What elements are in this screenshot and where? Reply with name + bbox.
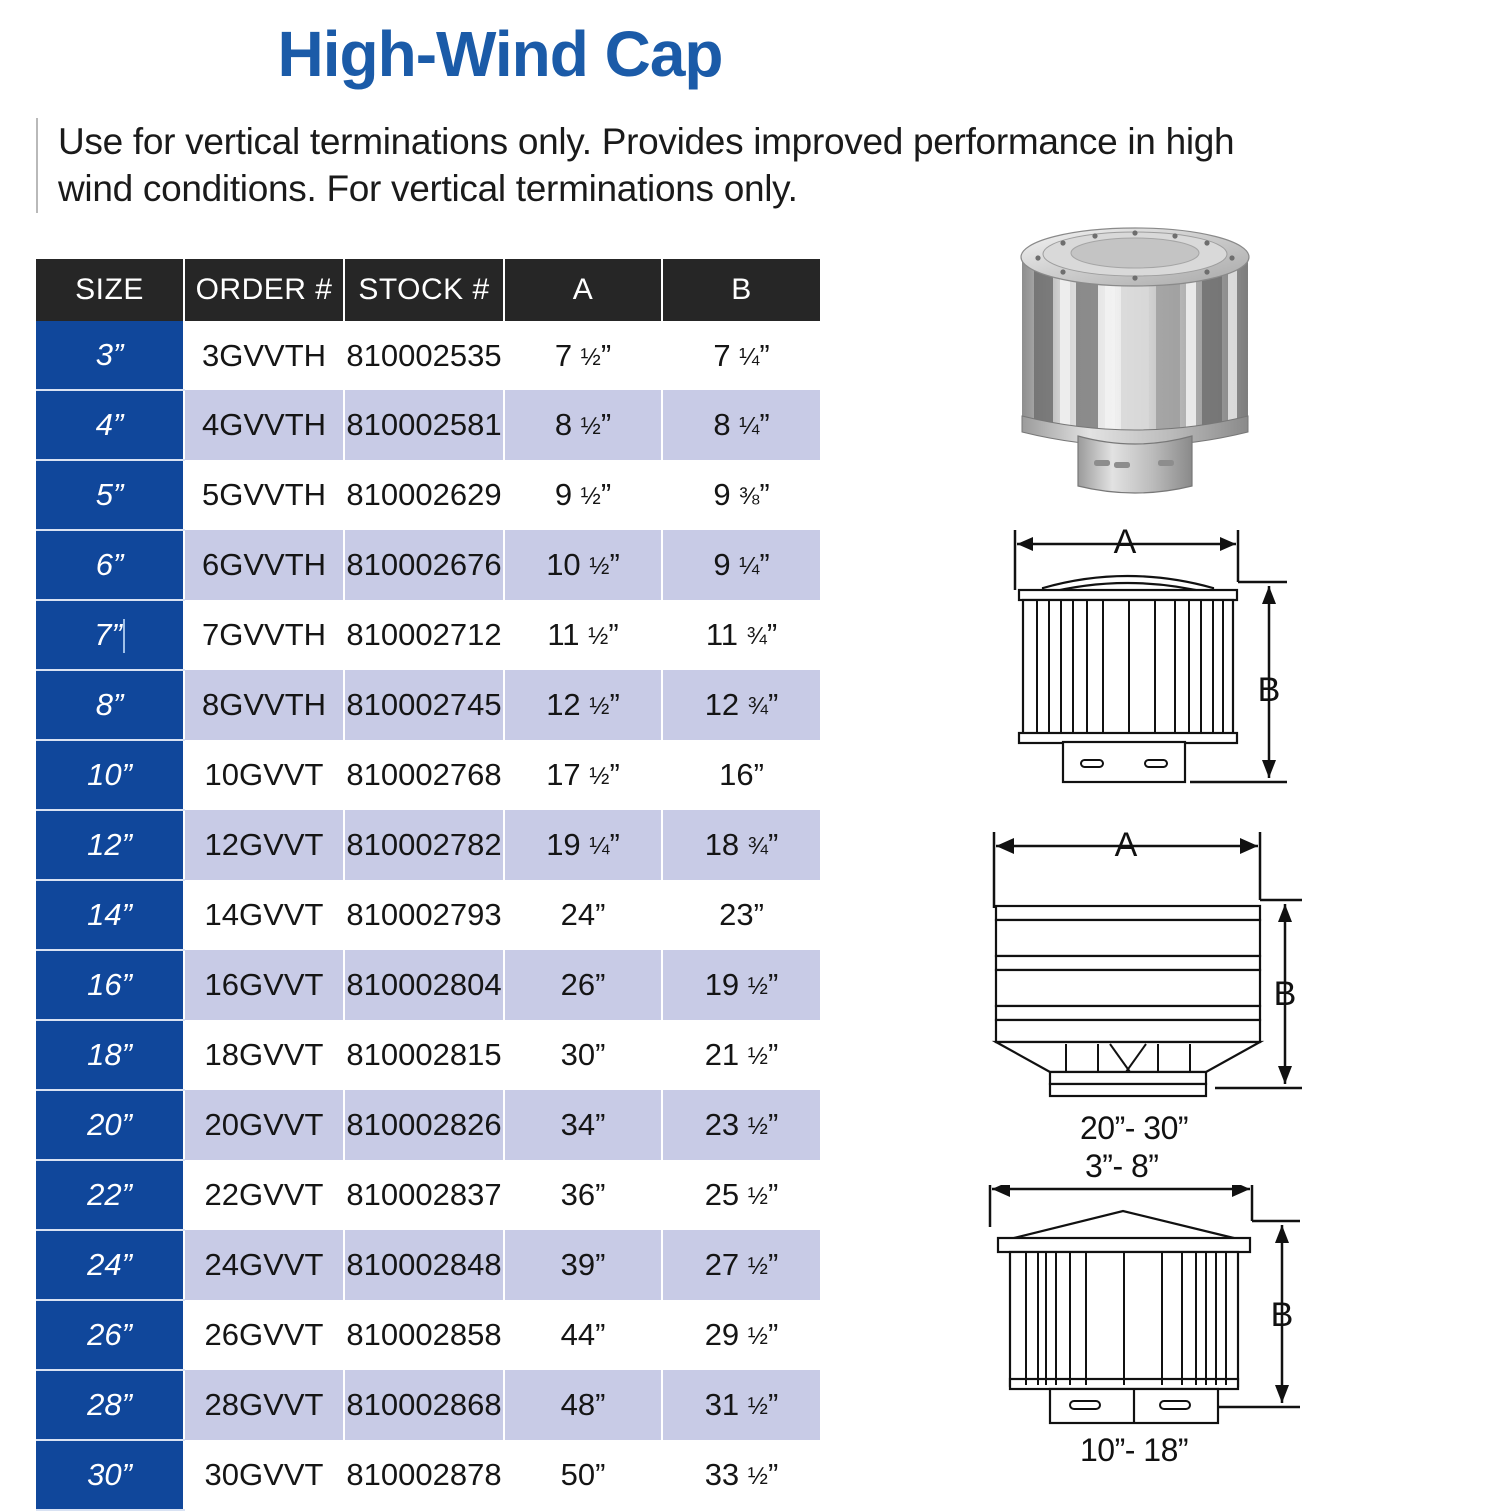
dim-a-label-2: A: [1115, 826, 1138, 864]
cell-stock: 810002581: [344, 390, 504, 460]
cell-stock: 810002837: [344, 1160, 504, 1230]
cell-order: 24GVVT: [184, 1230, 344, 1300]
table-row: 8”8GVVTH81000274512 ½”12 ¾”: [36, 670, 820, 740]
cell-b: 23 ½”: [662, 1090, 820, 1160]
dim-b-label-1: B: [1258, 671, 1281, 709]
cell-stock: 810002535: [344, 321, 504, 390]
cell-size: 24”: [36, 1230, 184, 1300]
table-body: 3”3GVVTH8100025357 ½”7 ¼”4”4GVVTH8100025…: [36, 321, 820, 1510]
column-header-order: ORDER #: [184, 259, 344, 321]
cell-stock: 810002745: [344, 670, 504, 740]
cell-b: 27 ½”: [662, 1230, 820, 1300]
table-row: 12”12GVVT81000278219 ¼”18 ¾”: [36, 810, 820, 880]
diagram-peaked-cap: B: [960, 1185, 1310, 1435]
table-row: 24”24GVVT81000284839”27 ½”: [36, 1230, 820, 1300]
cell-order: 6GVVTH: [184, 530, 344, 600]
cell-size: 12”: [36, 810, 184, 880]
cell-size: 18”: [36, 1020, 184, 1090]
cell-size: 3”: [36, 321, 184, 390]
cell-stock: 810002858: [344, 1300, 504, 1370]
cell-stock: 810002815: [344, 1020, 504, 1090]
cell-order: 28GVVT: [184, 1370, 344, 1440]
table-row: 26”26GVVT81000285844”29 ½”: [36, 1300, 820, 1370]
description-text: Use for vertical terminations only. Prov…: [58, 118, 1266, 213]
cell-size: 20”: [36, 1090, 184, 1160]
cell-b: 7 ¼”: [662, 321, 820, 390]
page-title: High-Wind Cap: [0, 22, 1000, 86]
column-header-size: SIZE: [36, 259, 184, 321]
caption-3-8-inch: 3”- 8”: [1085, 1148, 1158, 1185]
cell-order: 18GVVT: [184, 1020, 344, 1090]
cell-a: 24”: [504, 880, 662, 950]
cell-order: 20GVVT: [184, 1090, 344, 1160]
cell-size: 16”: [36, 950, 184, 1020]
cell-stock: 810002804: [344, 950, 504, 1020]
cell-size: 6”: [36, 530, 184, 600]
cell-a: 30”: [504, 1020, 662, 1090]
dim-a-label-1: A: [1114, 523, 1137, 561]
cell-order: 7GVVTH: [184, 600, 344, 670]
cell-size: 14”: [36, 880, 184, 950]
description-block: Use for vertical terminations only. Prov…: [36, 118, 1266, 213]
cell-size: 28”: [36, 1370, 184, 1440]
cell-size: 10”: [36, 740, 184, 810]
cell-order: 8GVVTH: [184, 670, 344, 740]
cell-stock: 810002782: [344, 810, 504, 880]
table-row: 5”5GVVTH8100026299 ½”9 ⅜”: [36, 460, 820, 530]
cell-size: 22”: [36, 1160, 184, 1230]
table-row: 10”10GVVT81000276817 ½”16”: [36, 740, 820, 810]
cell-b: 9 ¼”: [662, 530, 820, 600]
cell-b: 29 ½”: [662, 1300, 820, 1370]
table-row: 4”4GVVTH8100025818 ½”8 ¼”: [36, 390, 820, 460]
cell-a: 7 ½”: [504, 321, 662, 390]
cell-b: 18 ¾”: [662, 810, 820, 880]
cell-b: 12 ¾”: [662, 670, 820, 740]
cell-order: 12GVVT: [184, 810, 344, 880]
table-row: 28”28GVVT81000286848”31 ½”: [36, 1370, 820, 1440]
cell-a: 39”: [504, 1230, 662, 1300]
cell-a: 11 ½”: [504, 600, 662, 670]
specification-table: SIZE ORDER # STOCK # A B 3”3GVVTH8100025…: [36, 259, 820, 1511]
table-row: 3”3GVVTH8100025357 ½”7 ¼”: [36, 321, 820, 390]
table-header-row: SIZE ORDER # STOCK # A B: [36, 259, 820, 321]
cell-b: 31 ½”: [662, 1370, 820, 1440]
cell-order: 10GVVT: [184, 740, 344, 810]
cell-b: 21 ½”: [662, 1020, 820, 1090]
dim-b-label-2: B: [1274, 975, 1297, 1013]
cell-a: 9 ½”: [504, 460, 662, 530]
cell-stock: 810002629: [344, 460, 504, 530]
cell-b: 19 ½”: [662, 950, 820, 1020]
cell-stock: 810002768: [344, 740, 504, 810]
cell-a: 12 ½”: [504, 670, 662, 740]
cell-a: 8 ½”: [504, 390, 662, 460]
cell-a: 34”: [504, 1090, 662, 1160]
cell-b: 9 ⅜”: [662, 460, 820, 530]
table-row: 14”14GVVT81000279324”23”: [36, 880, 820, 950]
table-row: 18”18GVVT81000281530”21 ½”: [36, 1020, 820, 1090]
cell-order: 5GVVTH: [184, 460, 344, 530]
cell-stock: 810002712: [344, 600, 504, 670]
cell-size: 8”: [36, 670, 184, 740]
dim-b-label-3: B: [1271, 1296, 1294, 1334]
cell-a: 26”: [504, 950, 662, 1020]
table-row: 7”7GVVTH81000271211 ½”11 ¾”: [36, 600, 820, 670]
cell-b: 11 ¾”: [662, 600, 820, 670]
cell-size: 4”: [36, 390, 184, 460]
cell-order: 4GVVTH: [184, 390, 344, 460]
cell-b: 25 ½”: [662, 1160, 820, 1230]
cell-a: 44”: [504, 1300, 662, 1370]
product-visuals: A B: [930, 200, 1490, 1490]
column-header-b: B: [662, 259, 820, 321]
diagram-banded-cap: A B: [970, 820, 1310, 1110]
cell-size: 5”: [36, 460, 184, 530]
cell-stock: 810002868: [344, 1370, 504, 1440]
cell-stock: 810002848: [344, 1230, 504, 1300]
column-header-stock: STOCK #: [344, 259, 504, 321]
cell-order: 16GVVT: [184, 950, 344, 1020]
table-row: 6”6GVVTH81000267610 ½”9 ¼”: [36, 530, 820, 600]
table-row: 22”22GVVT81000283736”25 ½”: [36, 1160, 820, 1230]
cell-order: 3GVVTH: [184, 321, 344, 390]
cell-order: 26GVVT: [184, 1300, 344, 1370]
cell-order: 22GVVT: [184, 1160, 344, 1230]
cell-b: 8 ¼”: [662, 390, 820, 460]
cell-stock: 810002826: [344, 1090, 504, 1160]
table-row: 16”16GVVT81000280426”19 ½”: [36, 950, 820, 1020]
cell-b: 23”: [662, 880, 820, 950]
diagram-louvered-cap: A B: [985, 520, 1305, 805]
text-caret-artifact: [123, 619, 125, 653]
cell-a: 36”: [504, 1160, 662, 1230]
cell-a: 19 ¼”: [504, 810, 662, 880]
cell-a: 17 ½”: [504, 740, 662, 810]
column-header-a: A: [504, 259, 662, 321]
cell-size: 7”: [36, 600, 184, 670]
cell-a: 10 ½”: [504, 530, 662, 600]
cell-b: 16”: [662, 740, 820, 810]
cell-a: 48”: [504, 1370, 662, 1440]
cell-stock: 810002793: [344, 880, 504, 950]
cell-size: 26”: [36, 1300, 184, 1370]
product-photo: [990, 210, 1280, 510]
cell-order: 14GVVT: [184, 880, 344, 950]
table-row: 20”20GVVT81000282634”23 ½”: [36, 1090, 820, 1160]
caption-10-18-inch: 10”- 18”: [1080, 1432, 1188, 1469]
caption-20-30-inch: 20”- 30”: [1080, 1110, 1188, 1147]
cell-stock: 810002676: [344, 530, 504, 600]
